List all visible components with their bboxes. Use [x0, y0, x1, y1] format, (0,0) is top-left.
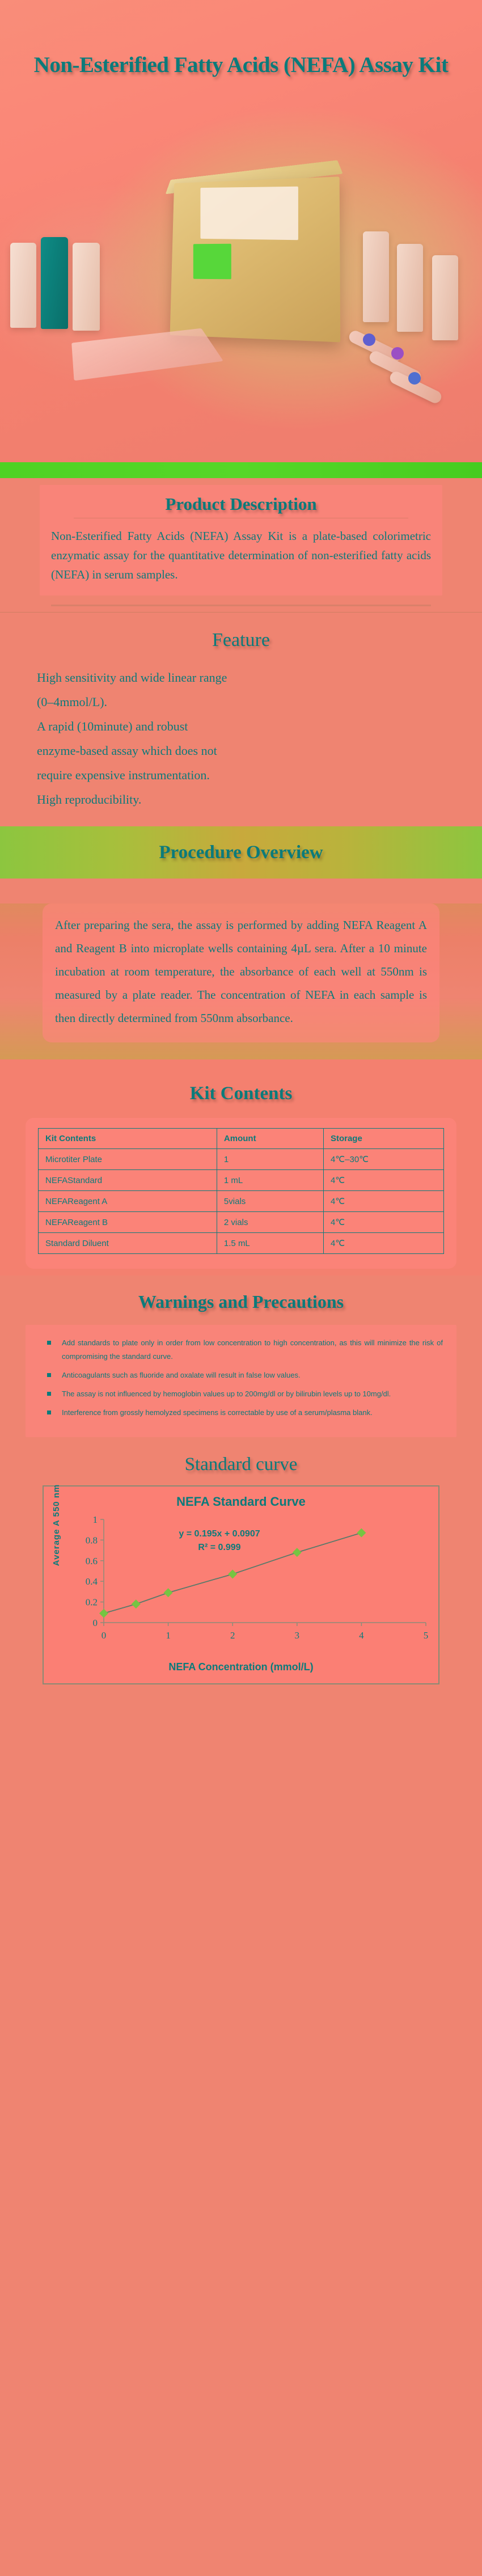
section-underline	[51, 605, 431, 606]
feature-line: (0–4mmol/L).	[37, 690, 445, 715]
table-row: Standard Diluent 1.5 mL 4℃	[39, 1233, 444, 1254]
hero-banner: Non-Esterified Fatty Acids (NEFA) Assay …	[0, 0, 482, 462]
cell-item: NEFAStandard	[39, 1170, 217, 1191]
cell-storage: 4℃	[323, 1191, 443, 1212]
svg-text:5: 5	[424, 1630, 429, 1641]
heading-rule	[74, 518, 408, 518]
standard-curve-chart: NEFA Standard Curve Average A 550 nm y =…	[43, 1485, 439, 1684]
kit-box-label	[200, 187, 298, 240]
feature-section: Feature High sensitivity and wide linear…	[0, 612, 482, 826]
tube-cap	[363, 333, 375, 346]
cell-amount: 1	[217, 1149, 323, 1170]
procedure-overview-section: After preparing the sera, the assay is p…	[0, 903, 482, 1059]
product-flyer-page: Non-Esterified Fatty Acids (NEFA) Assay …	[0, 0, 482, 2576]
reagent-vial	[41, 237, 68, 329]
cell-item: NEFAReagent A	[39, 1191, 217, 1212]
chart-x-ticks: 012345	[102, 1623, 429, 1641]
cell-amount: 2 vials	[217, 1212, 323, 1233]
reagent-vial	[73, 243, 100, 331]
cell-item: Standard Diluent	[39, 1233, 217, 1254]
column-header-kit-contents: Kit Contents	[39, 1129, 217, 1149]
svg-text:0.2: 0.2	[86, 1597, 98, 1608]
table-row: NEFAStandard 1 mL 4℃	[39, 1170, 444, 1191]
procedure-overview-banner: Procedure Overview	[0, 826, 482, 879]
feature-line: enzyme-based assay which does not	[37, 739, 445, 763]
svg-text:0: 0	[93, 1618, 98, 1628]
kit-contents-card: Kit Contents Amount Storage Microtiter P…	[26, 1118, 456, 1269]
table-row: Microtiter Plate 1 4℃–30℃	[39, 1149, 444, 1170]
table-row: NEFAReagent A 5vials 4℃	[39, 1191, 444, 1212]
cell-amount: 1.5 mL	[217, 1233, 323, 1254]
list-item: Interference from grossly hemolyzed spec…	[39, 1406, 443, 1420]
reagent-vial	[432, 255, 458, 340]
warnings-heading: Warnings and Precautions	[0, 1276, 482, 1325]
standard-curve-heading: Standard curve	[0, 1441, 482, 1485]
procedure-overview-heading: Procedure Overview	[159, 842, 323, 863]
chart-title: NEFA Standard Curve	[49, 1494, 433, 1509]
kit-contents-table: Kit Contents Amount Storage Microtiter P…	[38, 1128, 444, 1254]
feature-line: A rapid (10minute) and robust	[37, 715, 445, 739]
svg-text:4: 4	[359, 1630, 364, 1641]
svg-text:1: 1	[166, 1630, 171, 1641]
qc-pass-sticker	[193, 244, 231, 280]
kit-contents-section: Kit Contents Kit Contents Amount Storage…	[0, 1059, 482, 1276]
tube-cap	[391, 347, 404, 360]
chart-svg: 00.20.40.60.81 012345	[72, 1511, 435, 1653]
svg-text:0: 0	[102, 1630, 107, 1641]
column-header-storage: Storage	[323, 1129, 443, 1149]
cell-amount: 1 mL	[217, 1170, 323, 1191]
kit-contents-heading: Kit Contents	[0, 1059, 482, 1118]
cell-storage: 4℃	[323, 1170, 443, 1191]
feature-list: High sensitivity and wide linear range (…	[37, 666, 445, 812]
chart-plot-area: Average A 550 nm y = 0.195x + 0.0907 R² …	[49, 1511, 435, 1653]
warnings-section: Warnings and Precautions Add standards t…	[0, 1276, 482, 1441]
standard-curve-section: Standard curve NEFA Standard Curve Avera…	[0, 1441, 482, 1707]
chart-series-markers	[99, 1528, 366, 1618]
svg-text:0.6: 0.6	[86, 1556, 98, 1566]
page-title: Non-Esterified Fatty Acids (NEFA) Assay …	[0, 52, 482, 78]
list-item: Anticoagulants such as fluoride and oxal…	[39, 1369, 443, 1382]
svg-text:2: 2	[230, 1630, 235, 1641]
product-description-section: Product Description Non-Esterified Fatty…	[0, 478, 482, 612]
list-item: Add standards to plate only in order fro…	[39, 1336, 443, 1363]
procedure-overview-card: After preparing the sera, the assay is p…	[43, 903, 439, 1042]
feature-heading: Feature	[0, 613, 482, 666]
chart-y-axis-label: Average A 550 nm	[52, 1477, 61, 1573]
chart-y-ticks: 00.20.40.60.81	[86, 1514, 104, 1628]
product-description-text: Non-Esterified Fatty Acids (NEFA) Assay …	[51, 526, 431, 584]
reagent-vial	[10, 243, 36, 328]
svg-text:1: 1	[93, 1514, 98, 1525]
table-header-row: Kit Contents Amount Storage	[39, 1129, 444, 1149]
product-description-card: Product Description Non-Esterified Fatty…	[40, 485, 442, 596]
feature-line: High sensitivity and wide linear range	[37, 666, 445, 690]
cell-item: Microtiter Plate	[39, 1149, 217, 1170]
feature-line: High reproducibility.	[37, 788, 445, 812]
cell-item: NEFAReagent B	[39, 1212, 217, 1233]
svg-text:0.8: 0.8	[86, 1535, 98, 1546]
svg-text:3: 3	[295, 1630, 300, 1641]
procedure-overview-text: After preparing the sera, the assay is p…	[55, 914, 427, 1030]
column-header-amount: Amount	[217, 1129, 323, 1149]
tube-cap	[408, 372, 421, 385]
green-divider-band	[0, 462, 482, 478]
reagent-vial	[397, 244, 423, 332]
svg-text:0.4: 0.4	[86, 1577, 98, 1587]
chart-x-axis-label: NEFA Concentration (mmol/L)	[49, 1653, 433, 1678]
reagent-vial	[363, 231, 389, 322]
warnings-list: Add standards to plate only in order fro…	[39, 1336, 443, 1420]
list-item: The assay is not influenced by hemoglobi…	[39, 1387, 443, 1401]
cell-storage: 4℃	[323, 1212, 443, 1233]
cell-storage: 4℃–30℃	[323, 1149, 443, 1170]
warnings-card: Add standards to plate only in order fro…	[26, 1325, 456, 1437]
cell-amount: 5vials	[217, 1191, 323, 1212]
feature-line: require expensive instrumentation.	[37, 763, 445, 788]
microplate-photo	[71, 328, 223, 381]
table-row: NEFAReagent B 2 vials 4℃	[39, 1212, 444, 1233]
product-description-heading: Product Description	[51, 494, 431, 514]
cell-storage: 4℃	[323, 1233, 443, 1254]
